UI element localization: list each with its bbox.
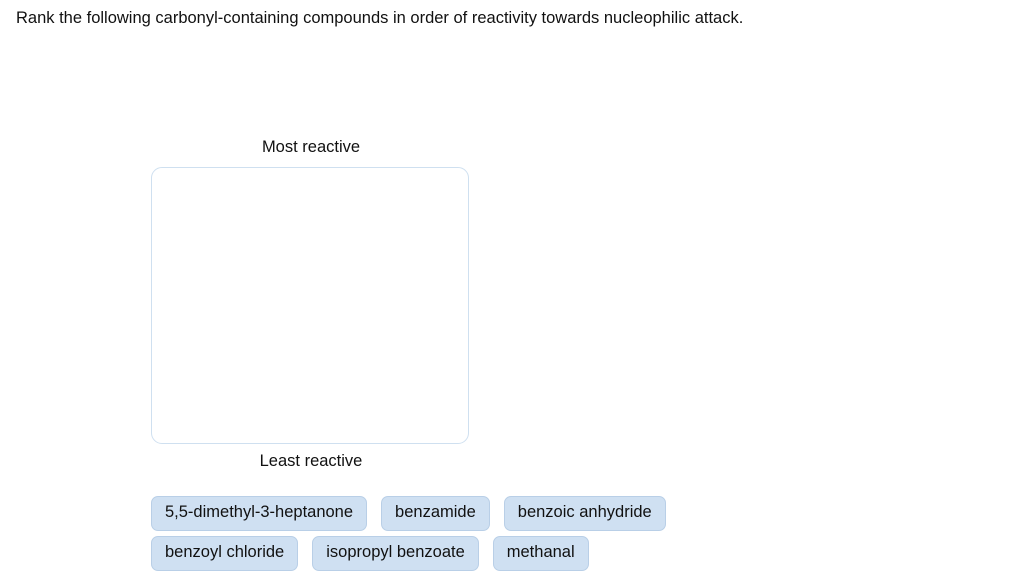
- draggable-chip[interactable]: benzoyl chloride: [151, 536, 298, 571]
- draggable-chip[interactable]: benzamide: [381, 496, 490, 531]
- draggable-chip[interactable]: methanal: [493, 536, 589, 571]
- question-prompt: Rank the following carbonyl-containing c…: [16, 8, 1006, 29]
- chip-row: benzoyl chloride isopropyl benzoate meth…: [151, 536, 1011, 571]
- ranking-drop-zone[interactable]: [151, 167, 469, 444]
- draggable-chip[interactable]: isopropyl benzoate: [312, 536, 479, 571]
- least-reactive-label: Least reactive: [151, 450, 471, 476]
- draggable-chip[interactable]: 5,5-dimethyl-3-heptanone: [151, 496, 367, 531]
- ranking-area: Most reactive Least reactive: [151, 136, 471, 476]
- chip-bank: 5,5-dimethyl-3-heptanone benzamide benzo…: [151, 496, 1011, 576]
- most-reactive-label: Most reactive: [151, 136, 471, 162]
- draggable-chip[interactable]: benzoic anhydride: [504, 496, 666, 531]
- chip-row: 5,5-dimethyl-3-heptanone benzamide benzo…: [151, 496, 1011, 531]
